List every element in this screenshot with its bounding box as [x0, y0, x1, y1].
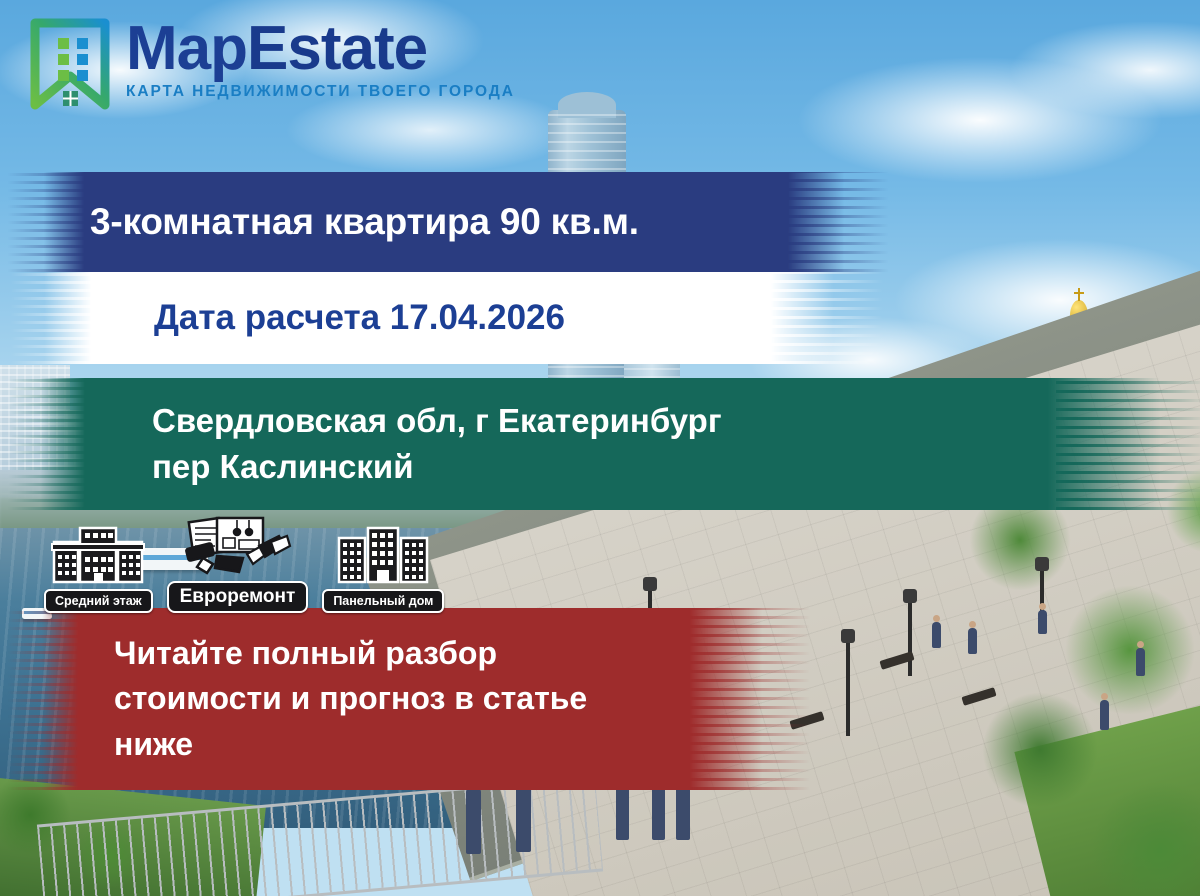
panel-house-icon — [335, 524, 431, 586]
badge-label: Панельный дом — [322, 589, 444, 613]
street-lamp-icon — [908, 600, 912, 676]
mid-floor-building-icon — [50, 524, 146, 586]
pedestrian — [1100, 700, 1109, 730]
cta-banner: Читайте полный разбор стоимости и прогно… — [42, 608, 762, 790]
street-lamp-icon — [846, 640, 850, 736]
cta-line-2: стоимости и прогноз в статье — [114, 676, 587, 721]
pedestrian — [466, 788, 481, 854]
pedestrian — [1136, 648, 1145, 676]
badge-label: Евроремонт — [167, 581, 309, 613]
brand-logo[interactable]: MapEstate КАРТА НЕДВИЖИМОСТИ ТВОЕГО ГОРО… — [28, 18, 515, 110]
brand-tagline: КАРТА НЕДВИЖИМОСТИ ТВОЕГО ГОРОДА — [126, 83, 515, 101]
bookmark-building-logo-icon — [28, 18, 112, 110]
brand-name-part2: Estate — [247, 14, 427, 83]
address-text: Свердловская обл, г Екатеринбург пер Кас… — [40, 398, 722, 489]
cta-text: Читайте полный разбор стоимости и прогно… — [42, 631, 587, 767]
address-line-2: пер Каслинский — [152, 444, 722, 490]
badge-renovation: Евроремонт — [167, 516, 309, 613]
property-title-banner: 3-комнатная квартира 90 кв.м. — [44, 172, 844, 272]
renovation-tools-icon — [181, 516, 293, 578]
badge-mid-floor: Средний этаж — [44, 524, 153, 613]
pedestrian — [1038, 610, 1047, 634]
cta-line-1: Читайте полный разбор — [114, 631, 587, 676]
address-line-1: Свердловская обл, г Екатеринбург — [152, 398, 722, 444]
calculation-date-banner: Дата расчета 17.04.2026 — [44, 272, 834, 364]
brand-name: MapEstate — [126, 20, 515, 79]
pedestrian — [968, 628, 977, 654]
address-banner: Свердловская обл, г Екатеринбург пер Кас… — [40, 378, 1160, 510]
brand-name-part1: Map — [126, 14, 247, 83]
calculation-date-text: Дата расчета 17.04.2026 — [44, 298, 565, 338]
pedestrian — [516, 782, 531, 852]
pedestrian — [932, 622, 941, 648]
cta-line-3: ниже — [114, 722, 587, 767]
property-title-text: 3-комнатная квартира 90 кв.м. — [44, 201, 639, 243]
badge-panel-house: Панельный дом — [322, 524, 444, 613]
feature-badges: Средний этаж — [44, 516, 444, 613]
badge-label: Средний этаж — [44, 589, 153, 613]
